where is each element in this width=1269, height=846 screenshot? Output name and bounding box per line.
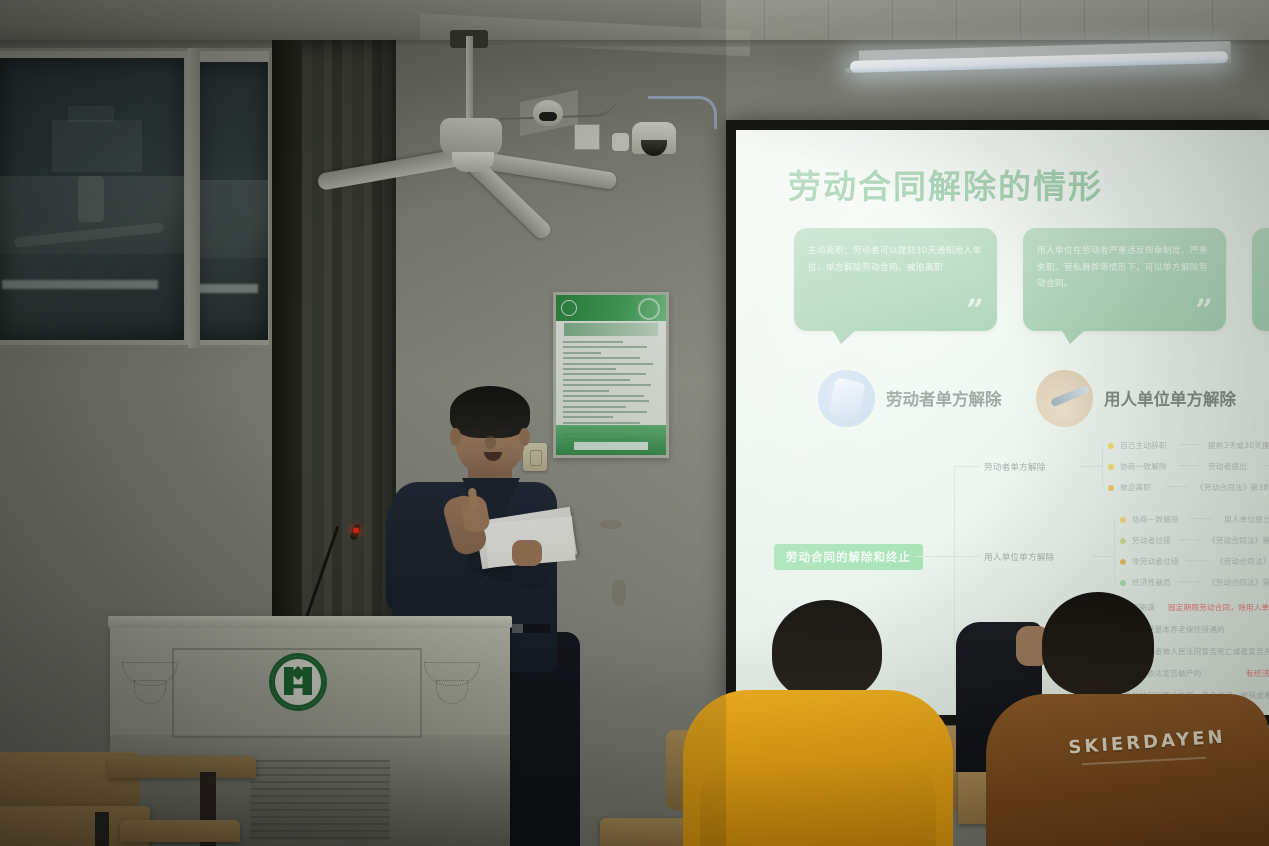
tree-law: 劳动者提出	[1208, 461, 1247, 472]
poster-title-band	[564, 323, 658, 336]
fan-rod	[466, 36, 473, 122]
tree-bullet	[1120, 559, 1126, 565]
reflected-lamp	[198, 284, 258, 293]
tree-cause: 经济性裁员	[1132, 577, 1171, 588]
speech-bubble-text: 用人单位在劳动者严重违反规章制度、严重失职、营私舞弊等情形下，可以单方解除劳动合…	[1037, 243, 1213, 293]
podium-decoration	[118, 660, 182, 708]
speech-bubble-group: 主动离职：劳动者可以提前30天通知用人单位，单方解除劳动合同。被迫离职 ” 用人…	[794, 228, 1269, 353]
eyebrow	[469, 421, 482, 424]
tree-cause: 被迫离职	[1120, 482, 1151, 493]
junction-box	[612, 133, 629, 151]
shirt-fold-shading	[700, 760, 936, 846]
window-pane-left	[0, 58, 184, 340]
speech-bubble-tail	[1061, 329, 1086, 344]
dome-camera-icon	[632, 122, 676, 154]
eye	[497, 428, 508, 432]
tree-connector	[954, 556, 980, 557]
lecture-desk[interactable]	[108, 756, 256, 778]
ear	[519, 428, 530, 446]
tree-connector	[916, 556, 954, 557]
curtain-shadow-fold	[272, 40, 302, 640]
student-head	[1042, 592, 1154, 696]
tree-cause: 协商一致解除	[1120, 461, 1167, 472]
speech-bubble: ”	[1252, 228, 1269, 331]
university-emblem	[272, 656, 324, 708]
wall-scuff	[600, 520, 622, 529]
tree-law: 《劳动合同法》第40条	[1216, 556, 1269, 567]
student-head	[772, 600, 882, 700]
microphone-led-icon	[353, 528, 359, 533]
tree-cause: 自己主动辞职	[1120, 440, 1167, 451]
belt-buckle	[512, 624, 523, 633]
category-label: 用人单位单方解除	[1104, 386, 1236, 410]
tree-spine	[954, 466, 955, 694]
student-brown-jacket	[986, 694, 1269, 846]
tree-law: 《劳动合同法》第38条	[1196, 482, 1269, 493]
tree-bullet	[1120, 580, 1126, 586]
nose	[485, 436, 496, 449]
quote-icon: ”	[966, 296, 984, 327]
tree-bullet	[1108, 464, 1114, 470]
poster-header	[556, 295, 666, 321]
seat-support	[95, 812, 109, 846]
ear	[450, 428, 461, 446]
wall-scuff	[612, 580, 626, 606]
tree-spine	[1114, 520, 1115, 588]
speaker-hand	[512, 540, 542, 566]
eyebrow	[496, 421, 509, 424]
speech-bubble: 用人单位在劳动者严重违反规章制度、严重失职、营私舞弊等情形下，可以单方解除劳动合…	[1023, 228, 1226, 331]
quote-icon: ”	[1195, 296, 1213, 327]
window-mullion	[188, 48, 200, 348]
reflected-fan-hub	[78, 176, 104, 222]
tree-cause: 协商一致解除	[1132, 514, 1179, 525]
slide-title: 劳动合同解除的情形	[788, 160, 1103, 208]
eye	[470, 428, 481, 432]
window-pane-right	[194, 62, 268, 340]
tree-connector	[1092, 556, 1114, 557]
tree-result: 有经济补偿金	[1246, 668, 1269, 679]
tree-root-highlight: 劳动合同的解除和终止	[774, 544, 923, 570]
tree-law: 提前3天或30天提出	[1208, 440, 1269, 451]
speaker-hair	[450, 386, 530, 438]
wall-notice-poster	[553, 292, 669, 458]
tree-cause: 劳动者过错	[1132, 535, 1171, 546]
tree-law: 《劳动合同法》第41条	[1208, 577, 1269, 588]
reflected-lamp	[2, 280, 158, 289]
tree-bullet	[1120, 517, 1126, 523]
tree-connector	[1080, 466, 1102, 467]
fan-light	[452, 152, 494, 172]
tinted-window	[0, 48, 272, 348]
tree-law: 固定期限劳动合同，除用人单位维持或者提高	[1168, 602, 1269, 613]
speech-bubble-tail	[832, 329, 857, 344]
tree-law: 用人单位提出	[1224, 514, 1269, 525]
bullet-camera-icon	[533, 100, 563, 126]
poster-footer	[556, 425, 666, 455]
tree-law: 《劳动合同法》第39条	[1208, 535, 1269, 546]
tree-spine	[1102, 446, 1103, 486]
tree-branch-label: 劳动者单方解除	[984, 461, 1046, 473]
junction-box	[574, 124, 600, 150]
classroom-photo: 劳动合同解除的情形 主动离职：劳动者可以提前30天通知用人单位，单方解除劳动合同…	[0, 0, 1269, 846]
tree-bullet	[1108, 443, 1114, 449]
poster-logo-icon	[561, 300, 577, 316]
category-label: 劳动者单方解除	[886, 386, 1002, 410]
tree-bullet	[1108, 485, 1114, 491]
reflected-building	[52, 120, 142, 172]
tree-cause: 非劳动者过错	[1132, 556, 1179, 567]
podium-top-surface	[108, 616, 512, 628]
reflected-horizon	[194, 180, 268, 258]
lecture-shelf[interactable]	[120, 820, 240, 842]
tree-connector	[954, 466, 980, 467]
wall-power-outlet[interactable]	[523, 443, 547, 471]
speech-bubble-text: 主动离职：劳动者可以提前30天通知用人单位，单方解除劳动合同。被迫离职	[808, 243, 984, 276]
tree-branch-label: 用人单位单方解除	[984, 551, 1054, 563]
speech-bubble: 主动离职：劳动者可以提前30天通知用人单位，单方解除劳动合同。被迫离职 ”	[794, 228, 997, 331]
ceiling-tile-band	[700, 0, 1269, 40]
worker-photo-icon	[818, 370, 875, 427]
podium-decoration	[420, 660, 484, 708]
tree-bullet	[1120, 538, 1126, 544]
pen-fan-photo-icon	[1036, 370, 1093, 427]
